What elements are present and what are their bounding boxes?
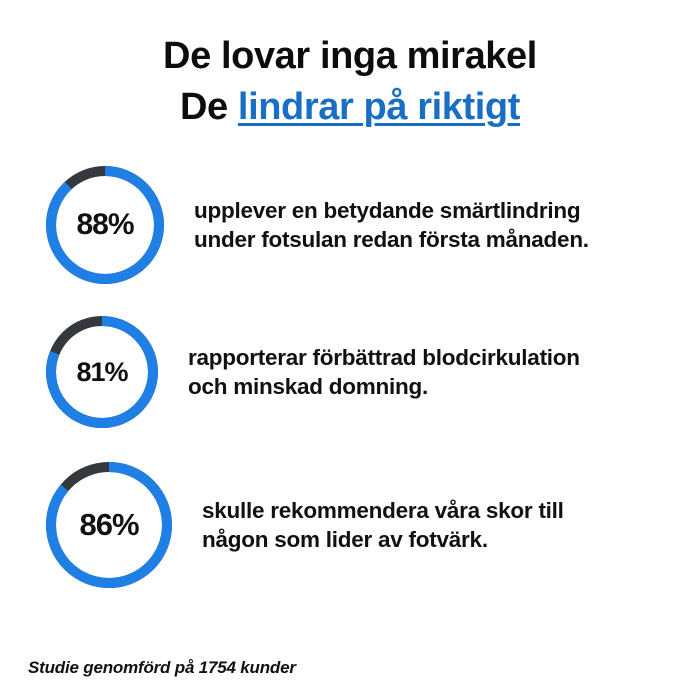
stat-text-line-1: rapporterar förbättrad blodcirkulation: [188, 343, 686, 372]
infographic-root: De lovar inga mirakel De lindrar på rikt…: [0, 0, 700, 700]
stat-text-line-1: upplever en betydande smärtlindring: [194, 196, 686, 225]
stat-description: upplever en betydande smärtlindring unde…: [194, 196, 700, 255]
headline-link[interactable]: lindrar på riktigt: [238, 86, 520, 128]
headline-line-1: De lovar inga mirakel: [0, 34, 700, 79]
stat-text-line-2: någon som lider av fotvärk.: [202, 525, 686, 554]
page-title: De lovar inga mirakel De lindrar på rikt…: [0, 34, 700, 130]
donut-percent-label: 88%: [46, 166, 164, 284]
stat-description: rapporterar förbättrad blodcirkulation o…: [188, 343, 700, 402]
stat-description: skulle rekommendera våra skor till någon…: [202, 496, 700, 555]
stat-text-line-2: under fotsulan redan första månaden.: [194, 225, 686, 254]
headline-line-2: De lindrar på riktigt: [0, 85, 700, 130]
stat-row: 86% skulle rekommendera våra skor till n…: [0, 462, 700, 588]
stat-text-line-1: skulle rekommendera våra skor till: [202, 496, 686, 525]
donut-chart-88: 88%: [46, 166, 164, 284]
donut-chart-86: 86%: [46, 462, 172, 588]
stat-row: 88% upplever en betydande smärtlindring …: [0, 166, 700, 284]
headline-prefix: De: [180, 86, 238, 128]
donut-percent-label: 81%: [46, 316, 158, 428]
donut-chart-81: 81%: [46, 316, 158, 428]
study-footnote: Studie genomförd på 1754 kunder: [28, 658, 296, 678]
stat-row: 81% rapporterar förbättrad blodcirkulati…: [0, 316, 700, 428]
stat-text-line-2: och minskad domning.: [188, 372, 686, 401]
donut-percent-label: 86%: [46, 462, 172, 588]
